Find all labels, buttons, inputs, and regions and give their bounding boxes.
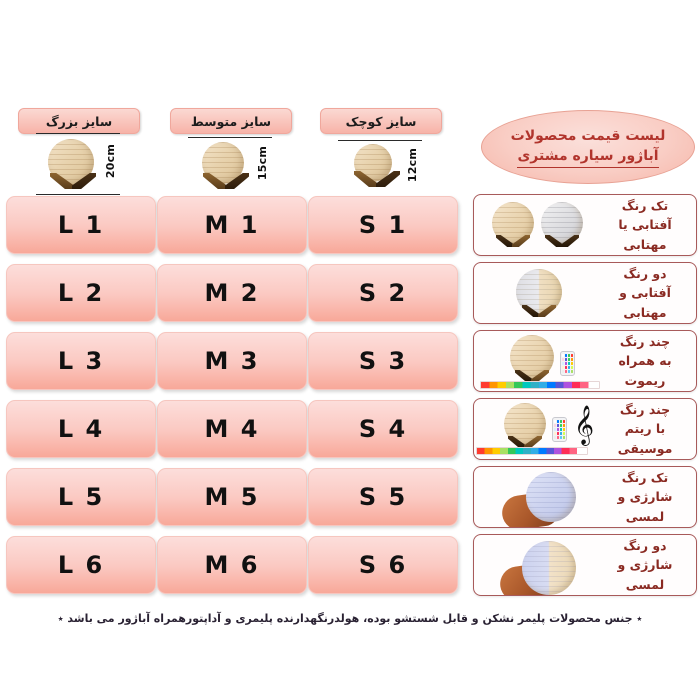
product-code-cell[interactable]: L 3: [6, 332, 156, 390]
lamp-illustration-large: 20cm: [18, 133, 138, 195]
lamp-illustration-small: 12cm: [320, 140, 440, 202]
description-row: دو رنگ آفتابی و مهتابی: [473, 262, 697, 324]
globe-blue-icon: [526, 472, 576, 522]
description-line1: چند رنگ: [602, 400, 688, 419]
description-line1: دو رنگ: [602, 536, 688, 555]
page-title-line1: لیست قیمت محصولات: [511, 126, 666, 146]
description-row: چند رنگ به همراه ریموت: [473, 330, 697, 392]
product-code-cell[interactable]: S 3: [308, 332, 458, 390]
description-line1: دو رنگ: [602, 264, 688, 283]
product-code-cell[interactable]: L 6: [6, 536, 156, 594]
product-code-cell[interactable]: M 1: [157, 196, 307, 254]
measure-line-top-large: [36, 133, 120, 134]
size-header-large: سایز بزرگ: [18, 108, 140, 134]
color-spectrum-strip: [476, 447, 588, 455]
price-list-poster: سایز بزرگ سایز متوسط سایز کوچک 20cm 15cm…: [0, 0, 700, 700]
size-header-medium-label: سایز متوسط: [191, 114, 271, 129]
product-code-cell[interactable]: L 5: [6, 468, 156, 526]
lamp-illustration-medium: 15cm: [170, 137, 290, 199]
description-text: چند رنگ با ریتم موسیقی: [602, 400, 688, 458]
description-row: چند رنگ با ریتم موسیقی 𝄞: [473, 398, 697, 460]
measure-line-top-medium: [188, 137, 272, 138]
size-header-medium: سایز متوسط: [170, 108, 292, 134]
description-line1: چند رنگ: [602, 332, 688, 351]
dimension-label-large: 20cm: [104, 144, 117, 178]
dimension-label-medium: 15cm: [256, 146, 269, 180]
description-row: تک رنگ آفتابی یا مهتابی: [473, 194, 697, 256]
description-text: چند رنگ به همراه ریموت: [602, 332, 688, 390]
measure-line-bottom-large: [36, 194, 120, 195]
product-code-cell[interactable]: M 6: [157, 536, 307, 594]
description-art-hand-blue: [474, 467, 604, 527]
product-code-cell[interactable]: M 5: [157, 468, 307, 526]
product-code-cell[interactable]: S 1: [308, 196, 458, 254]
product-code-cell[interactable]: L 1: [6, 196, 156, 254]
description-art-two-lamps: [474, 195, 604, 255]
description-text: دو رنگ آفتابی و مهتابی: [602, 264, 688, 322]
description-line2: آفتابی یا مهتابی: [602, 215, 688, 254]
rgb-remote-icon: [560, 351, 575, 376]
poster-title: لیست قیمت محصولات آباژور سیاره مشتری: [481, 110, 695, 184]
description-art-music: 𝄞: [474, 399, 604, 459]
description-art-remote: [474, 331, 604, 391]
description-line1: تک رنگ: [602, 468, 688, 487]
description-line2: با ریتم موسیقی: [602, 419, 688, 458]
color-spectrum-strip: [480, 381, 600, 389]
description-row: تک رنگ شارژی و لمسی: [473, 466, 697, 528]
product-code-cell[interactable]: L 4: [6, 400, 156, 458]
size-header-small-label: سایز کوچک: [346, 114, 417, 129]
product-code-cell[interactable]: S 2: [308, 264, 458, 322]
measure-line-top-small: [338, 140, 422, 141]
product-code-cell[interactable]: M 2: [157, 264, 307, 322]
description-line2: شارژی و لمسی: [602, 555, 688, 594]
music-note-icon: 𝄞: [574, 408, 594, 442]
product-code-cell[interactable]: S 6: [308, 536, 458, 594]
dimension-label-small: 12cm: [406, 148, 419, 182]
product-code-cell[interactable]: L 2: [6, 264, 156, 322]
lamp-stand-icon: [50, 173, 96, 190]
lamp-stand-icon: [203, 173, 249, 190]
size-header-large-label: سایز بزرگ: [46, 114, 112, 129]
description-art-dual-lamp: [474, 263, 604, 323]
product-code-cell[interactable]: M 3: [157, 332, 307, 390]
footer-note: ٭ جنس محصولات پلیمر نشکن و قابل شستشو بو…: [0, 612, 700, 625]
product-code-cell[interactable]: S 4: [308, 400, 458, 458]
description-line1: تک رنگ: [602, 196, 688, 215]
description-text: تک رنگ شارژی و لمسی: [602, 468, 688, 526]
description-line2: آفتابی و مهتابی: [602, 283, 688, 322]
description-text: دو رنگ شارژی و لمسی: [602, 536, 688, 594]
description-row: دو رنگ شارژی و لمسی: [473, 534, 697, 596]
description-art-hand-dual: [474, 535, 604, 595]
description-text: تک رنگ آفتابی یا مهتابی: [602, 196, 688, 254]
product-code-cell[interactable]: S 5: [308, 468, 458, 526]
rgb-remote-icon: [552, 417, 567, 442]
page-title-line2: آباژور سیاره مشتری: [517, 146, 658, 168]
lamp-stand-icon: [354, 171, 400, 188]
globe-dual-icon: [522, 541, 576, 595]
description-line2: شارژی و لمسی: [602, 487, 688, 526]
product-code-cell[interactable]: M 4: [157, 400, 307, 458]
description-line2: به همراه ریموت: [602, 351, 688, 390]
size-header-small: سایز کوچک: [320, 108, 442, 134]
